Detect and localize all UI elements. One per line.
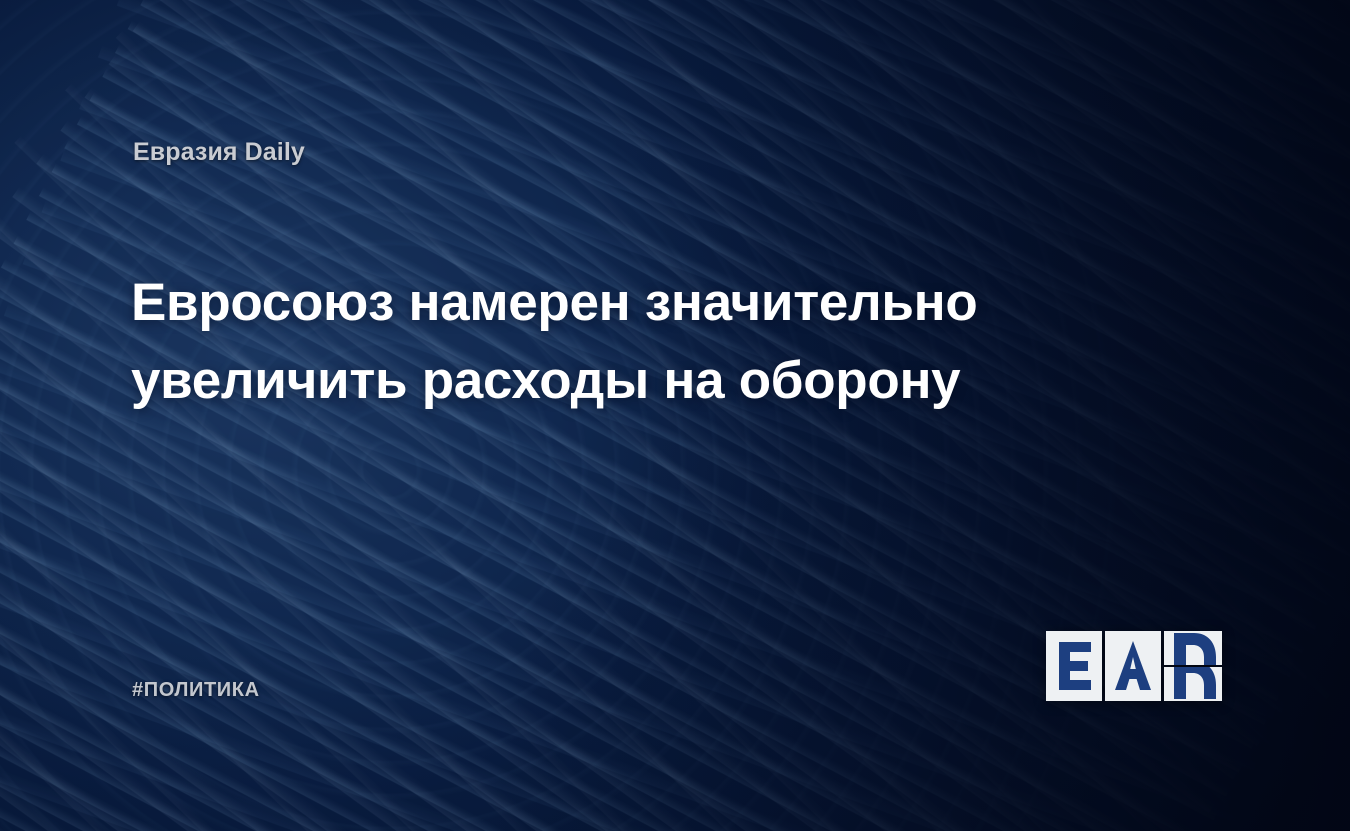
letter-a-icon xyxy=(1105,631,1161,701)
category-hashtag[interactable]: #ПОЛИТИКА xyxy=(132,679,260,702)
news-card: Евразия Daily Евросоюз намерен значитель… xyxy=(0,0,1350,831)
letter-e-icon xyxy=(1046,631,1102,701)
page-title: Евросоюз намерен значительно увеличить р… xyxy=(131,264,1031,420)
headline-line-2: увеличить расходы на оборону xyxy=(131,342,1031,420)
logo-tile-d-bottom xyxy=(1164,667,1222,701)
logo-tile-e xyxy=(1046,631,1102,701)
logo-tile-d xyxy=(1164,631,1222,701)
letter-d-split-icon xyxy=(1164,631,1222,665)
card-content: Евразия Daily Евросоюз намерен значитель… xyxy=(0,0,1350,831)
eadaily-logo xyxy=(1046,631,1222,701)
logo-tile-a xyxy=(1105,631,1161,701)
letter-d-split-icon xyxy=(1164,667,1222,701)
brand-label: Евразия Daily xyxy=(133,138,305,167)
headline-line-1: Евросоюз намерен значительно xyxy=(131,264,1031,342)
logo-tile-d-top xyxy=(1164,631,1222,665)
